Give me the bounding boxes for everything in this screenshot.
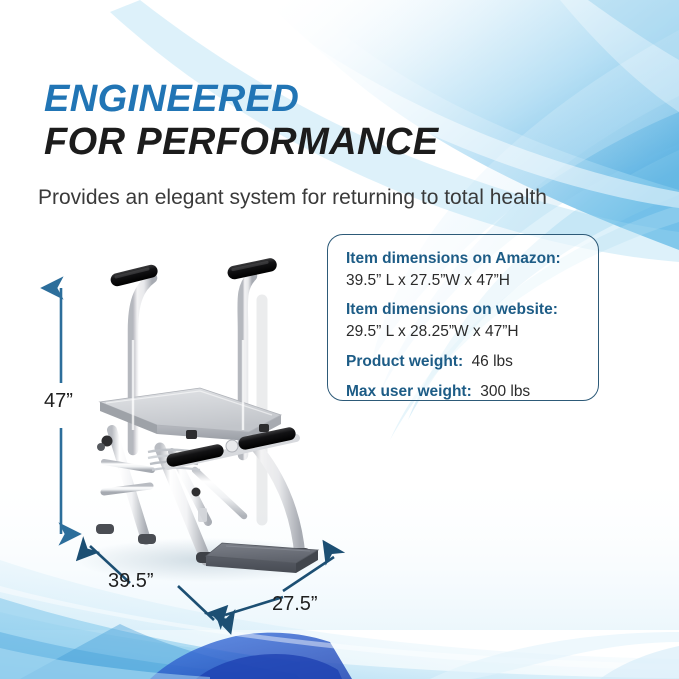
text-content-layer: ENGINEERED FOR PERFORMANCE Provides an e… [0,0,679,679]
spec-label-website-dimensions: Item dimensions on website: [346,301,558,318]
dimension-label-width: 27.5” [272,593,318,616]
product-infographic: ENGINEERED FOR PERFORMANCE Provides an e… [0,0,679,679]
spec-label-product-weight: Product weight: [346,353,463,370]
spec-row-website-dimensions: Item dimensions on website: 29.5” L x 28… [346,300,582,342]
spec-value-website-dimensions: 29.5” L x 28.25”W x 47”H [346,321,582,342]
dimension-label-depth: 39.5” [108,570,154,593]
specifications-box: Item dimensions on Amazon: 39.5” L x 27.… [327,234,599,401]
headline-line-2: FOR PERFORMANCE [44,120,604,164]
spec-row-max-user-weight: Max user weight: 300 lbs [346,381,582,402]
spec-row-amazon-dimensions: Item dimensions on Amazon: 39.5” L x 27.… [346,249,582,291]
page-title: ENGINEERED FOR PERFORMANCE [44,78,604,164]
subheading-text: Provides an elegant system for returning… [38,183,558,213]
spec-value-product-weight: 46 lbs [472,353,513,370]
spec-value-max-user-weight: 300 lbs [480,383,530,400]
spec-row-product-weight: Product weight: 46 lbs [346,351,582,372]
headline-line-1: ENGINEERED [44,78,604,120]
spec-value-amazon-dimensions: 39.5” L x 27.5”W x 47”H [346,270,582,291]
spec-label-amazon-dimensions: Item dimensions on Amazon: [346,250,561,267]
spec-label-max-user-weight: Max user weight: [346,383,472,400]
dimension-label-height: 47” [44,390,73,413]
